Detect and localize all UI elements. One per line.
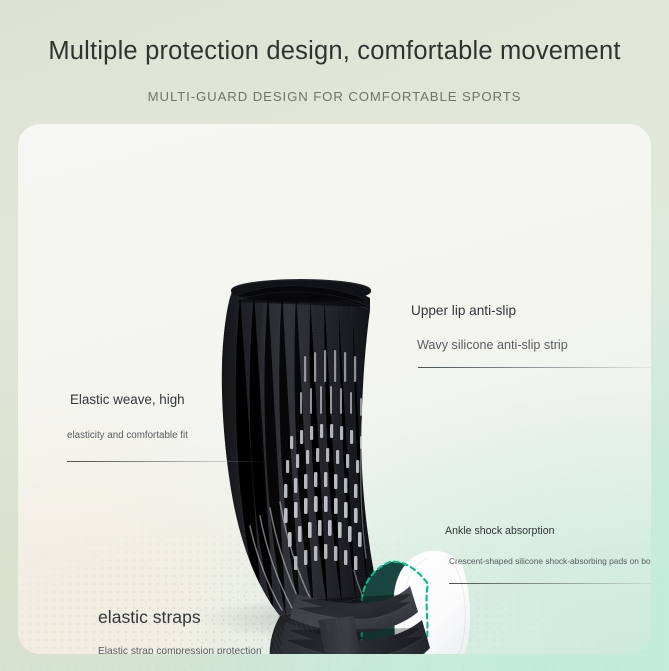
callout-subtext: Elastic strap compression protection <box>98 646 280 654</box>
callout-elastic-straps: elastic straps Elastic strap compression… <box>98 607 280 654</box>
callout-ankle-shock-absorption: Ankle shock absorption Crescent-shaped s… <box>445 525 651 584</box>
callout-subtext: Crescent-shaped silicone shock-absorbing… <box>449 556 651 566</box>
page-subtitle: MULTI-GUARD DESIGN FOR COMFORTABLE SPORT… <box>0 89 669 104</box>
callout-divider <box>418 367 651 368</box>
callout-heading: Ankle shock absorption <box>445 525 651 537</box>
callout-heading: elastic straps <box>98 607 280 628</box>
page-title: Multiple protection design, comfortable … <box>0 37 669 66</box>
callout-divider <box>449 583 651 584</box>
product-card: Upper lip anti-slip Wavy silicone anti-s… <box>18 124 651 654</box>
callout-elastic-weave: Elastic weave, high elasticity and comfo… <box>67 392 264 462</box>
callout-heading: Elastic weave, high <box>70 392 264 407</box>
callout-heading: Upper lip anti-slip <box>411 303 651 318</box>
callout-subtext: elasticity and comfortable fit <box>67 430 264 441</box>
infographic-stage: Multiple protection design, comfortable … <box>0 0 669 671</box>
callout-upper-lip-anti-slip: Upper lip anti-slip Wavy silicone anti-s… <box>411 303 651 368</box>
callout-subtext: Wavy silicone anti-slip strip <box>417 338 651 352</box>
callout-divider <box>67 461 264 462</box>
